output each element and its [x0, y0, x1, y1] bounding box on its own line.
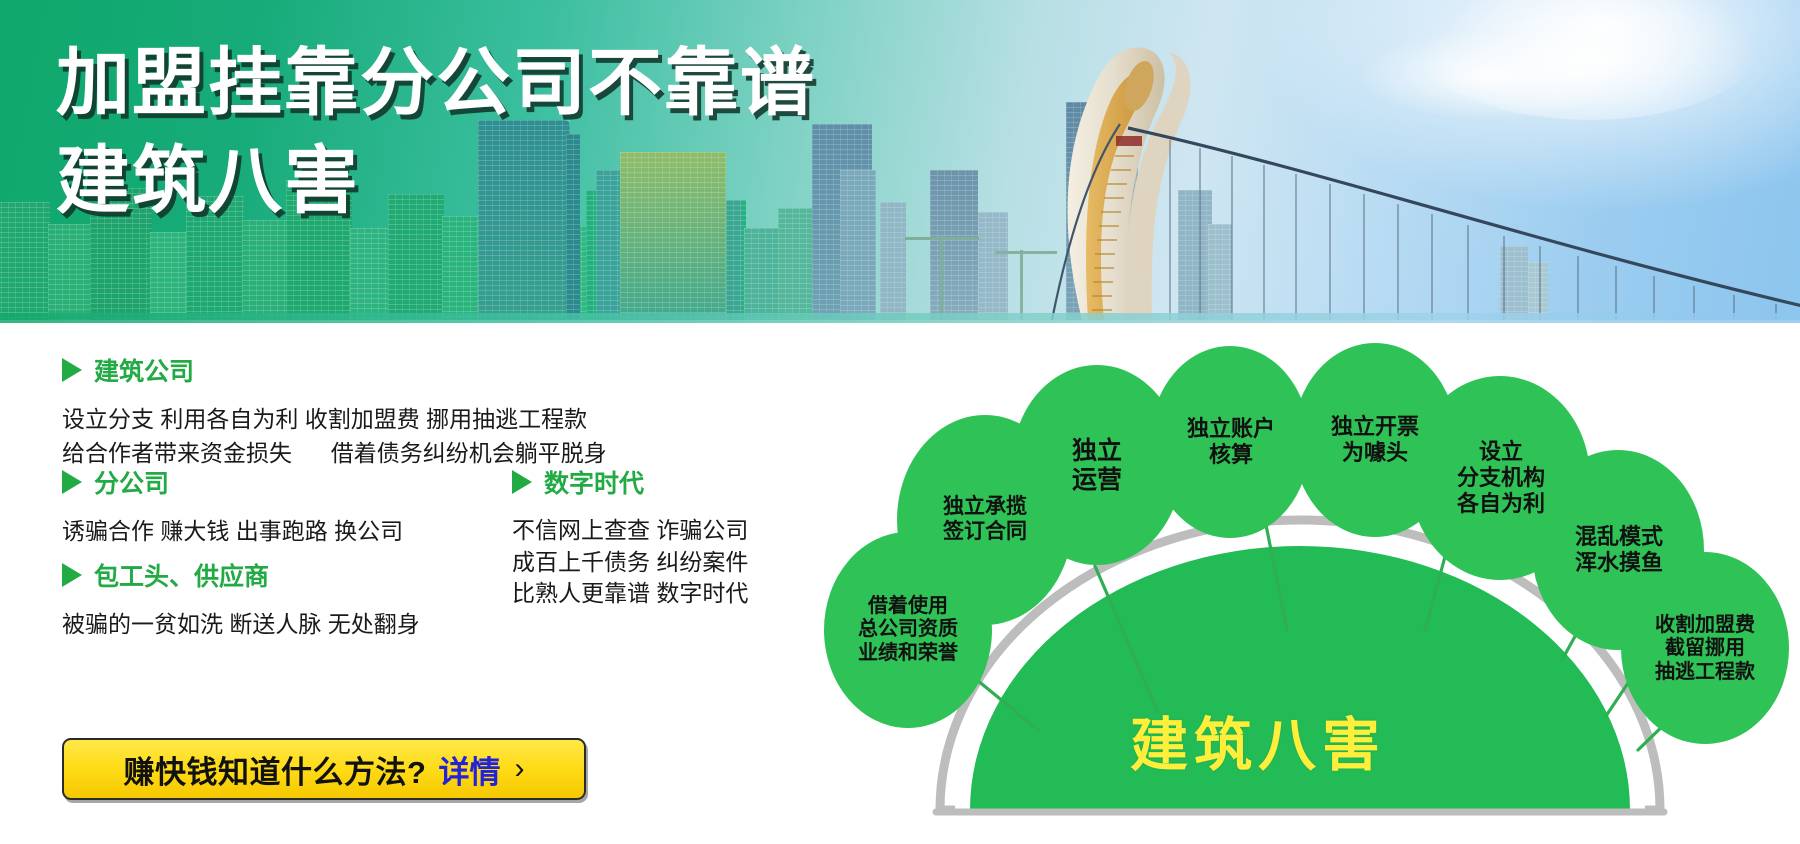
- digital-line-1: 不信网上查查 诈骗公司: [512, 515, 748, 547]
- diagram-panel: 借着使用 总公司资质 业绩和荣誉 独立承揽 签订合同 独立 运营 独立账户 核算: [800, 330, 1800, 844]
- group-title: 包工头、供应商: [94, 557, 269, 593]
- bubble-4-line-2: 核算: [1187, 442, 1275, 468]
- group-title: 分公司: [94, 464, 169, 500]
- poster-root: 加盟挂靠分公司不靠谱 建筑八害 建筑公司 设立分支 利用各自为利 收割加盟费 挪…: [0, 0, 1800, 844]
- group-contractor-supplier: 包工头、供应商 被骗的一贫如洗 断送人脉 无处翻身: [62, 557, 420, 641]
- digital-line-2: 成百上千债务 纠纷案件: [512, 547, 748, 579]
- bubble-6[interactable]: 设立 分支机构 各自为利: [1430, 406, 1572, 550]
- cta-button[interactable]: 赚快钱知道什么方法? 详情 ›: [62, 738, 586, 800]
- bridge-illustration: [1000, 20, 1800, 320]
- group-line-1: 诱骗合作 赚大钱 出事跑路 换公司: [62, 516, 403, 548]
- hero-title-line1: 加盟挂靠分公司不靠谱: [56, 46, 816, 120]
- group-digital-era: 数字时代 不信网上查查 诈骗公司 成百上千债务 纠纷案件 比熟人更靠谱 数字时代: [512, 464, 748, 610]
- bubble-5[interactable]: 独立开票 为噱头: [1309, 384, 1441, 496]
- digital-line-3: 比熟人更靠谱 数字时代: [512, 578, 748, 610]
- group-header: 包工头、供应商: [62, 557, 420, 593]
- cta-link-text[interactable]: 详情: [438, 747, 500, 792]
- cta-main-text: 赚快钱知道什么方法?: [124, 747, 427, 792]
- bubble-8[interactable]: 收割加盟费 截留挪用 抽逃工程款: [1633, 575, 1777, 723]
- chevron-right-icon: ›: [514, 752, 524, 786]
- group-line-2-part-a: 给合作者带来资金损失: [62, 440, 292, 466]
- triangle-bullet-icon: [62, 470, 82, 494]
- left-content-panel: 建筑公司 设立分支 利用各自为利 收割加盟费 挪用抽逃工程款 给合作者带来资金损…: [0, 332, 800, 844]
- group-construction-company: 建筑公司 设立分支 利用各自为利 收割加盟费 挪用抽逃工程款 给合作者带来资金损…: [62, 352, 607, 469]
- group-header: 建筑公司: [62, 352, 607, 388]
- diagram-center-label: 建筑八害: [1130, 698, 1386, 782]
- bubble-3[interactable]: 独立 运营: [1040, 408, 1154, 524]
- bubble-8-line-1: 收割加盟费: [1655, 614, 1755, 638]
- bubble-6-line-2: 分支机构: [1457, 465, 1545, 491]
- bubble-6-line-1: 设立: [1457, 439, 1545, 465]
- bubble-3-line-2: 运营: [1072, 466, 1122, 496]
- group-title: 数字时代: [544, 464, 644, 500]
- bubble-1-line-1: 借着使用: [858, 595, 958, 619]
- bubble-4-line-1: 独立账户: [1187, 416, 1275, 442]
- bubble-8-line-2: 截留挪用: [1655, 637, 1755, 661]
- group-line-1: 被骗的一贫如洗 断送人脉 无处翻身: [62, 609, 420, 641]
- bubble-1-line-3: 业绩和荣誉: [858, 642, 958, 666]
- group-line-1: 设立分支 利用各自为利 收割加盟费 挪用抽逃工程款: [62, 404, 607, 436]
- triangle-bullet-icon: [62, 563, 82, 587]
- group-title: 建筑公司: [94, 352, 194, 388]
- hero-bottom-edge: [0, 313, 1800, 323]
- bubble-7-line-1: 混乱模式: [1575, 524, 1663, 550]
- triangle-bullet-icon: [512, 470, 532, 494]
- group-line-2-part-b: 借着债务纠纷机会躺平脱身: [331, 440, 607, 466]
- bubble-6-line-3: 各自为利: [1457, 491, 1545, 517]
- group-header: 分公司: [62, 464, 403, 500]
- bubble-5-line-2: 为噱头: [1331, 440, 1419, 466]
- bubble-3-line-1: 独立: [1072, 437, 1122, 467]
- hero-title-line2: 建筑八害: [56, 144, 816, 218]
- bubble-5-line-1: 独立开票: [1331, 414, 1419, 440]
- group-branch-company: 分公司 诱骗合作 赚大钱 出事跑路 换公司: [62, 464, 403, 548]
- hero-banner: 加盟挂靠分公司不靠谱 建筑八害: [0, 0, 1800, 320]
- bubble-1-line-2: 总公司资质: [858, 618, 958, 642]
- bubble-4[interactable]: 独立账户 核算: [1166, 386, 1296, 498]
- bubble-2-line-1: 独立承揽: [943, 495, 1027, 520]
- bubble-8-line-3: 抽逃工程款: [1655, 661, 1755, 685]
- triangle-bullet-icon: [62, 358, 82, 382]
- bubble-2-line-2: 签订合同: [943, 520, 1027, 545]
- bubble-2[interactable]: 独立承揽 签订合同: [918, 455, 1052, 585]
- bubble-7-line-2: 浑水摸鱼: [1575, 550, 1663, 576]
- hero-title-block: 加盟挂靠分公司不靠谱 建筑八害: [56, 46, 816, 218]
- group-header: 数字时代: [512, 464, 748, 500]
